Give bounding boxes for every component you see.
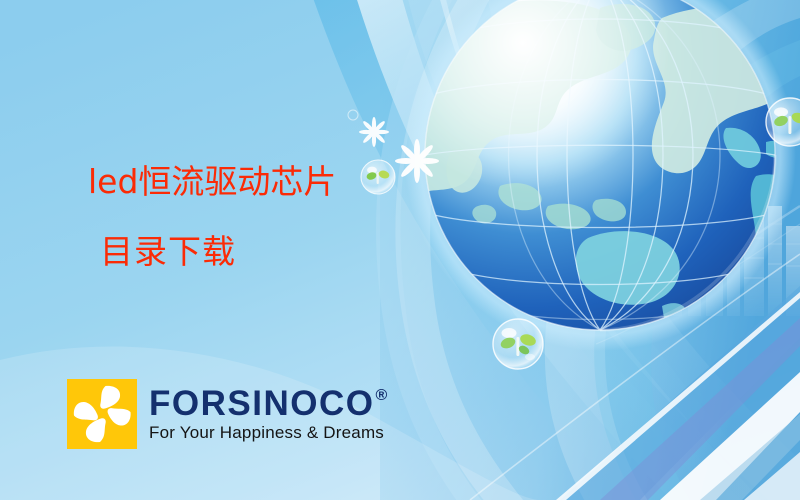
brand-tagline: For Your Happiness & Dreams bbox=[149, 423, 387, 443]
bubble-left bbox=[361, 160, 395, 194]
brand-name: FORSINOCO® bbox=[149, 386, 387, 422]
bubble-mid bbox=[493, 319, 543, 369]
four-petal-flower-mark bbox=[67, 379, 137, 449]
poster-canvas: led恒流驱动芯片 目录下载 FORSINOCO® For Your Happi… bbox=[0, 0, 800, 500]
brand-name-text: FORSINOCO bbox=[149, 386, 374, 422]
company-logo: FORSINOCO® For Your Happiness & Dreams bbox=[67, 379, 387, 449]
flower-small bbox=[359, 117, 389, 147]
flower-large bbox=[395, 139, 439, 183]
logo-wordmark: FORSINOCO® For Your Happiness & Dreams bbox=[149, 386, 387, 443]
registered-trademark-icon: ® bbox=[375, 388, 387, 404]
